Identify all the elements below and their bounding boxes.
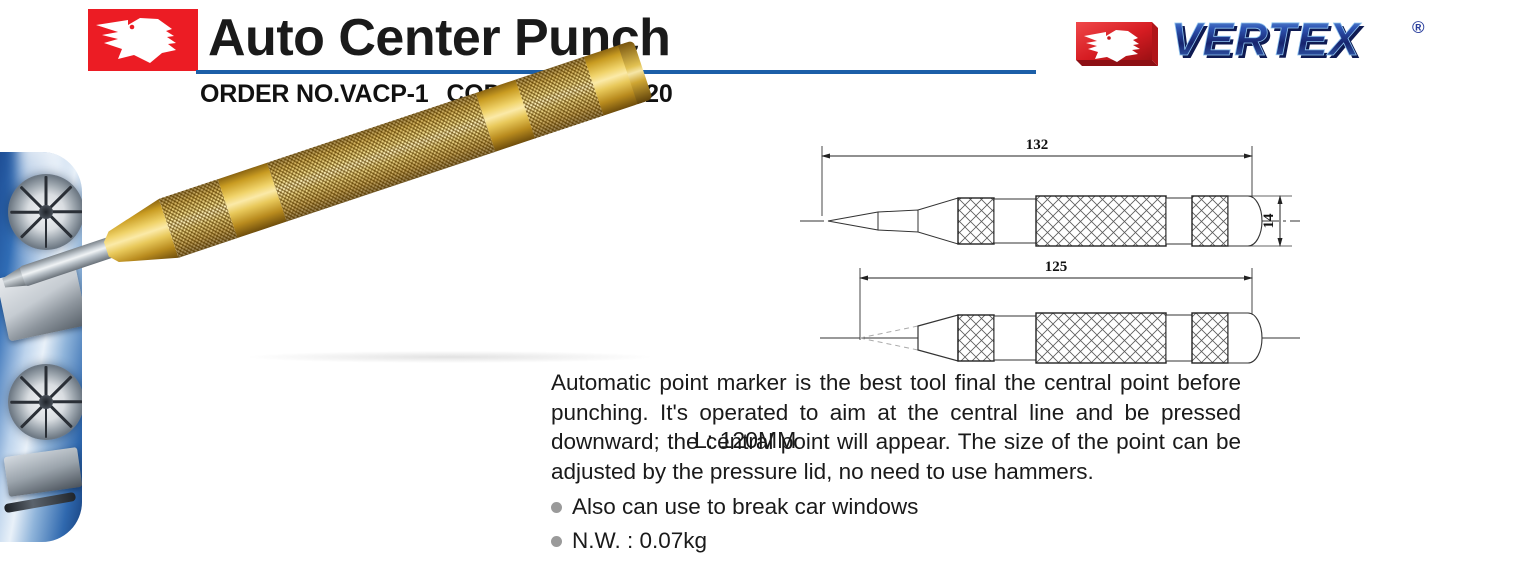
list-item: Also can use to break car windows bbox=[551, 490, 1241, 524]
list-item: N.W. : 0.07kg bbox=[551, 524, 1241, 558]
rotary-table-hub-top bbox=[39, 205, 53, 219]
auto-center-punch-illustration bbox=[100, 41, 651, 277]
rotary-table-hub-bottom bbox=[39, 395, 53, 409]
product-photo-shadow bbox=[250, 351, 650, 363]
technical-drawings: 132 bbox=[800, 128, 1320, 378]
machine-accessory-photo bbox=[4, 447, 82, 497]
list-item-label: N.W. : 0.07kg bbox=[572, 528, 707, 553]
product-photo: L: 120MM bbox=[100, 155, 700, 355]
bullet-dot-icon bbox=[551, 536, 562, 547]
svg-text:14: 14 bbox=[1261, 213, 1277, 229]
svg-text:VERTEX: VERTEX bbox=[1171, 14, 1362, 65]
drawing-retracted-view: 125 bbox=[820, 259, 1300, 363]
registered-trademark-icon: ® bbox=[1412, 18, 1425, 38]
catalog-page: Auto Center Punch ORDER NO.VACP-1CODE NO… bbox=[0, 0, 1529, 562]
decorative-side-strip bbox=[0, 152, 82, 542]
list-item-label: Also can use to break car windows bbox=[572, 494, 918, 519]
order-number: ORDER NO.VACP-1 bbox=[200, 80, 429, 108]
eagle-head-icon bbox=[88, 9, 198, 71]
bullet-dot-icon bbox=[551, 502, 562, 513]
svg-text:132: 132 bbox=[1026, 137, 1049, 153]
feature-bullet-list: Also can use to break car windows N.W. :… bbox=[551, 490, 1241, 558]
drawing-extended-view: 132 bbox=[800, 137, 1300, 246]
description-paragraph: Automatic point marker is the best tool … bbox=[551, 368, 1241, 486]
rotary-table-photo-top bbox=[8, 174, 82, 250]
description-block: Automatic point marker is the best tool … bbox=[551, 368, 1241, 558]
punch-knurl-grip bbox=[267, 93, 495, 222]
rotary-table-photo-bottom bbox=[8, 364, 82, 440]
vertex-brand-logo: VERTEX VERTEX VERTEX bbox=[1070, 14, 1440, 70]
svg-text:125: 125 bbox=[1045, 259, 1068, 275]
